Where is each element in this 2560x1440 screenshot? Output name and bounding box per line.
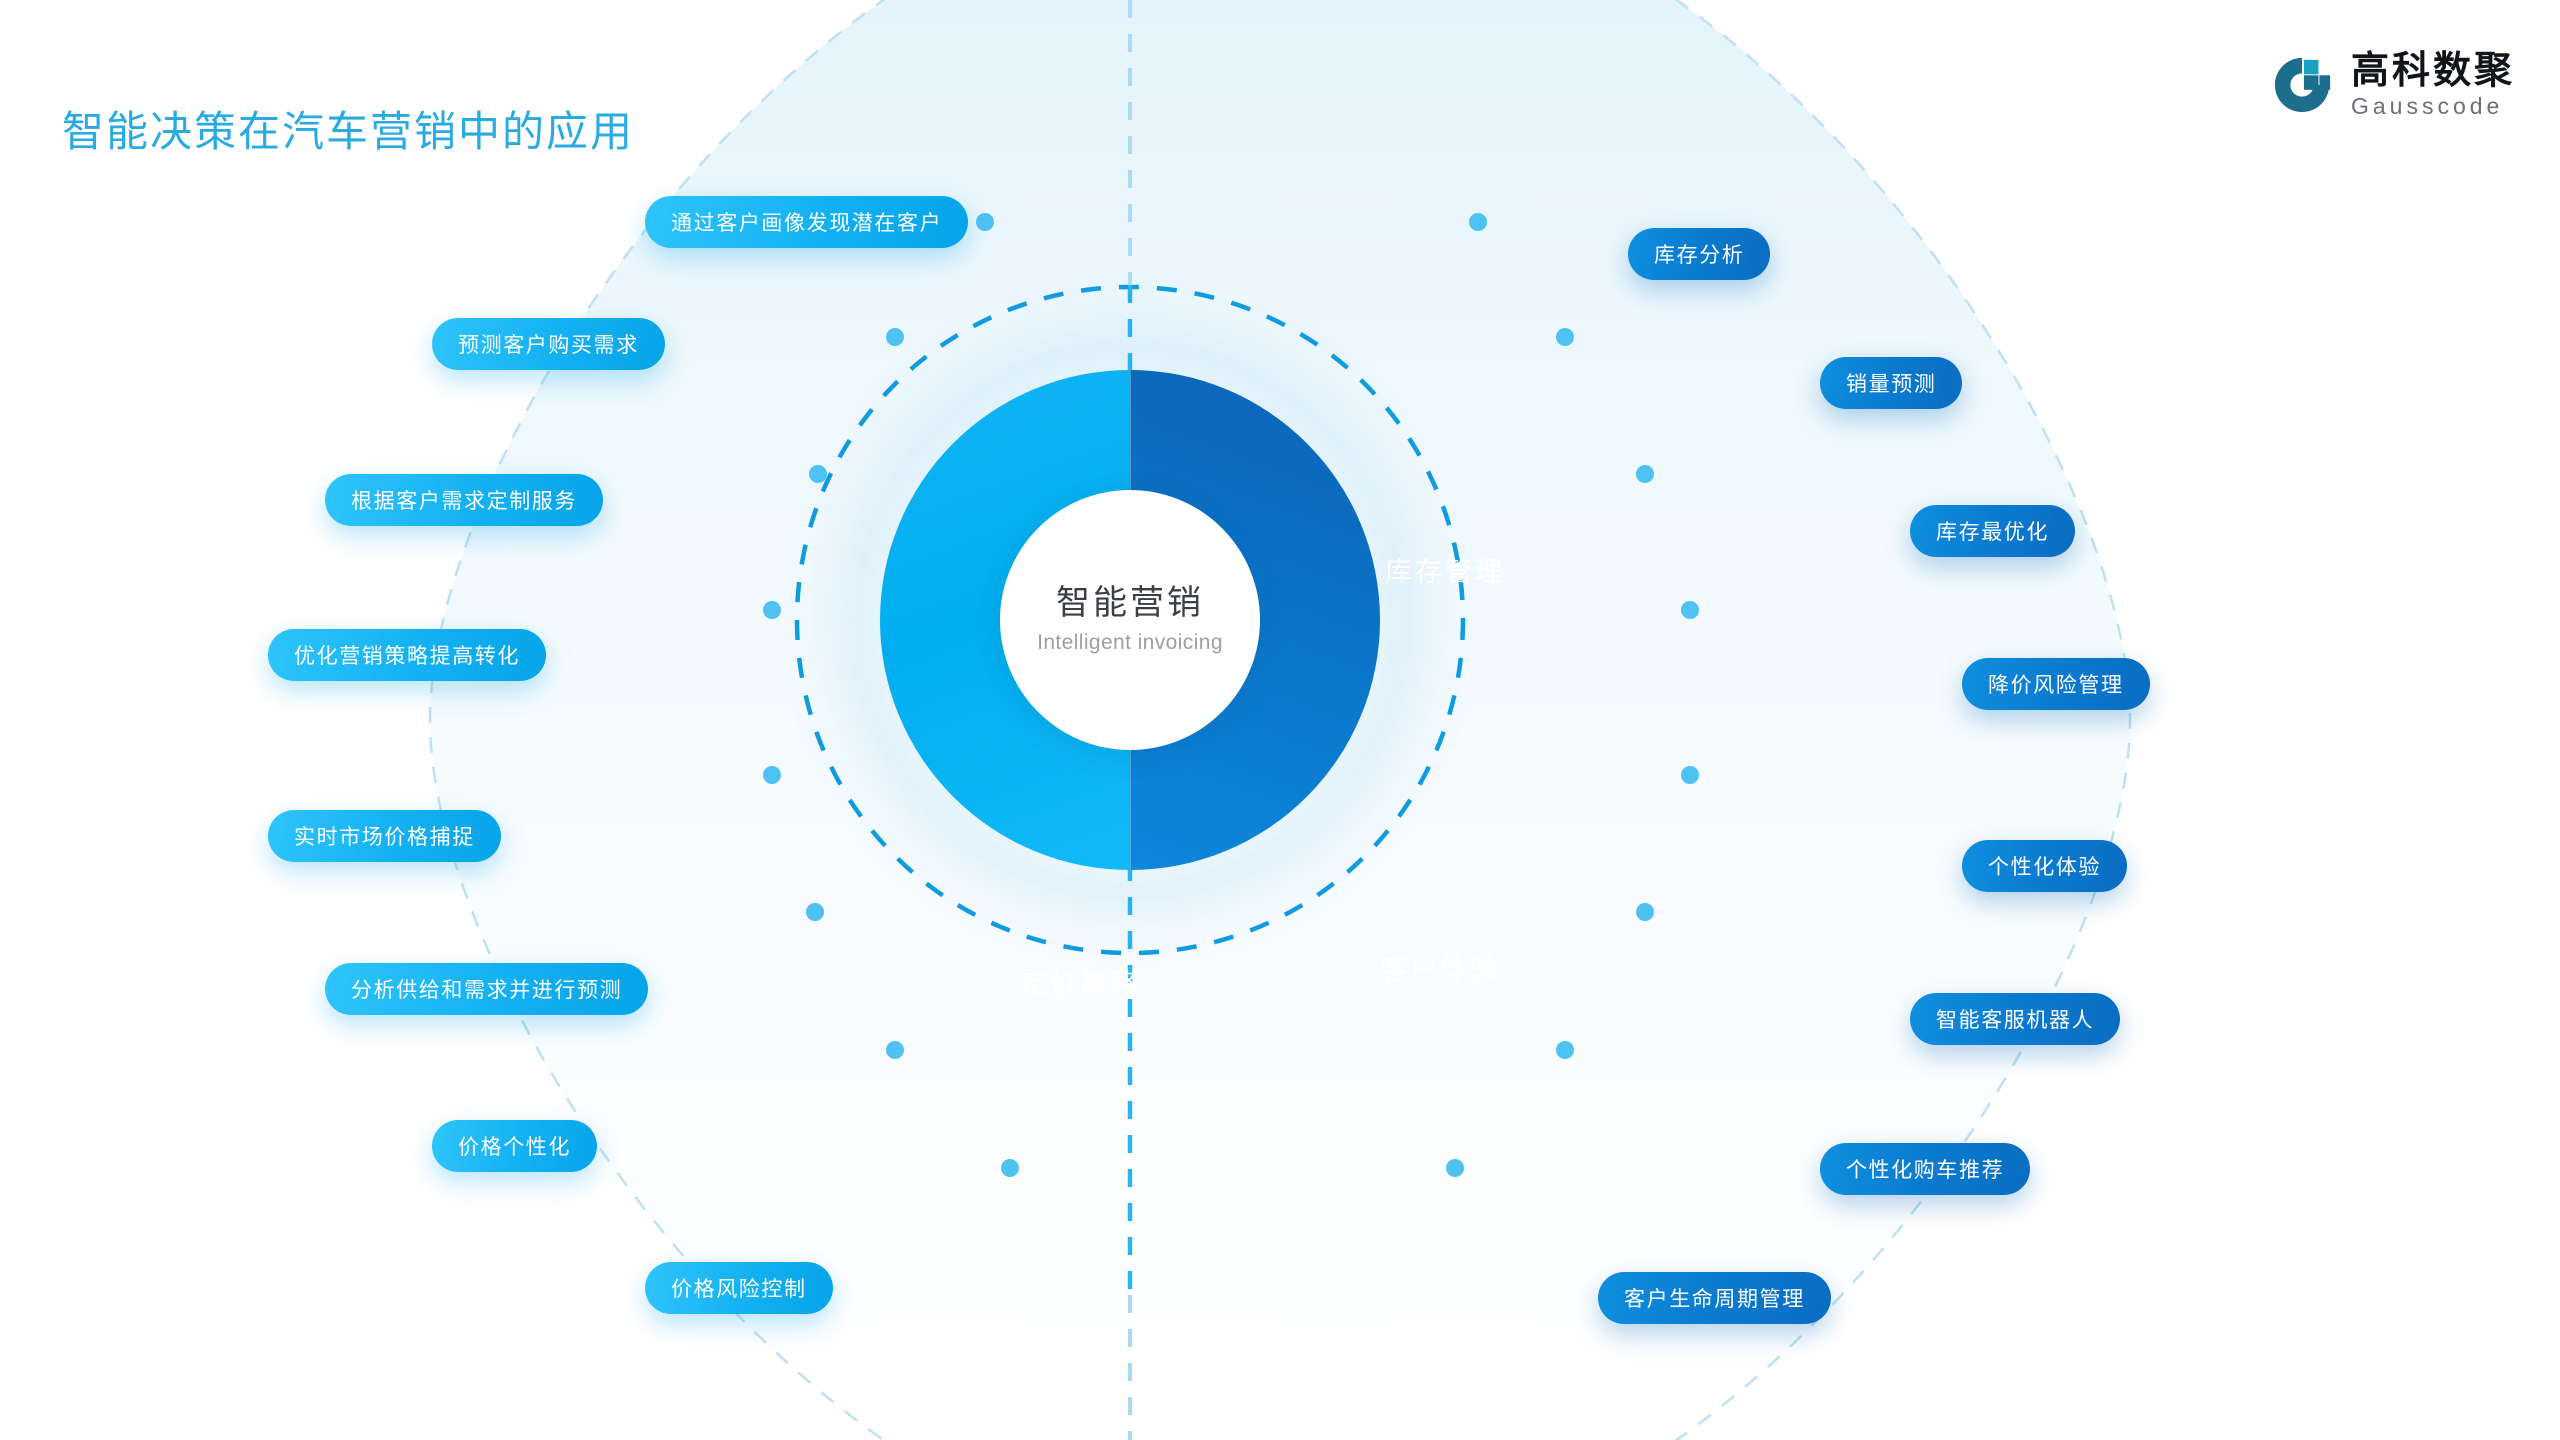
- brand-name-cn: 高科数聚: [2351, 52, 2515, 90]
- center-title-cn: 智能营销: [1056, 585, 1204, 622]
- list-item-left-5[interactable]: 分析供给和需求并进行预测: [325, 963, 648, 1015]
- list-item-left-1[interactable]: 预测客户购买需求: [432, 318, 665, 370]
- page-title: 智能决策在汽车营销中的应用: [62, 98, 634, 159]
- quadrant-label-bottom-left: 定价策略: [1020, 962, 1140, 1001]
- list-item-right-4[interactable]: 个性化体验: [1962, 840, 2127, 892]
- quadrant-label-bottom-right: 客户体验: [1380, 948, 1500, 987]
- list-item-left-7[interactable]: 价格风险控制: [645, 1262, 833, 1314]
- quadrant-label-top-right: 库存管理: [1385, 550, 1505, 589]
- list-item-left-2[interactable]: 根据客户需求定制服务: [325, 474, 603, 526]
- list-item-right-0[interactable]: 库存分析: [1628, 228, 1770, 280]
- list-item-right-3[interactable]: 降价风险管理: [1962, 658, 2150, 710]
- list-item-right-2[interactable]: 库存最优化: [1910, 505, 2075, 557]
- list-item-left-0[interactable]: 通过客户画像发现潜在客户: [645, 196, 968, 248]
- list-item-left-3[interactable]: 优化营销策略提高转化: [268, 629, 546, 681]
- list-item-left-4[interactable]: 实时市场价格捕捉: [268, 810, 501, 862]
- gausscode-logo-icon: [2271, 54, 2333, 116]
- center-title-en: Intelligent invoicing: [1037, 631, 1223, 655]
- center-hub: 智能营销 Intelligent invoicing: [1000, 490, 1260, 750]
- brand-logo: 高科数聚 Gausscode: [2271, 52, 2515, 118]
- list-item-right-7[interactable]: 客户生命周期管理: [1598, 1272, 1831, 1324]
- list-item-right-6[interactable]: 个性化购车推荐: [1820, 1143, 2030, 1195]
- infographic-canvas: 智能决策在汽车营销中的应用 高科数聚 Gausscode 精准营销 库存管理 定…: [0, 0, 2560, 1440]
- brand-name-en: Gausscode: [2351, 95, 2515, 118]
- list-item-right-1[interactable]: 销量预测: [1820, 357, 1962, 409]
- list-item-left-6[interactable]: 价格个性化: [432, 1120, 597, 1172]
- list-item-right-5[interactable]: 智能客服机器人: [1910, 993, 2120, 1045]
